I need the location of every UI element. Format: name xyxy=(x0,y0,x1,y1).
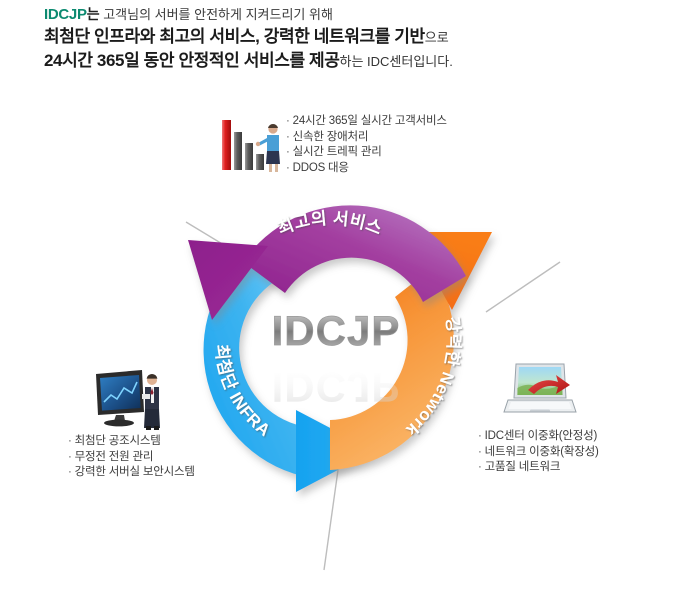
list-item: 고품질 네트워크 xyxy=(478,460,599,476)
list-item: 네트워크 이중화(확장성) xyxy=(478,445,599,461)
list-item: 실시간 트레픽 관리 xyxy=(286,145,447,161)
bar-chart-presenter-icon xyxy=(218,112,282,176)
infographic-canvas: IDCJP는 고객님의 서버를 안전하게 지켜드리기 위해 최첨단 인프라와 최… xyxy=(0,0,680,600)
center-logo-text: IDCJP xyxy=(272,307,401,354)
list-item: 강력한 서버실 보안시스템 xyxy=(68,465,195,481)
list-item: 무정전 전원 관리 xyxy=(68,450,195,466)
center-logo: IDCJP IDCJP xyxy=(272,307,401,411)
cycle-diagram: 최고의 서비스 최첨단 INFRA 강력한 Network IDCJP IDCJ… xyxy=(0,0,680,600)
list-item: DDOS 대응 xyxy=(286,161,447,177)
connector-line-network xyxy=(486,262,560,312)
laptop-arrow-icon xyxy=(504,360,576,422)
center-logo-reflection: IDCJP xyxy=(272,364,401,411)
monitor-businessman-icon xyxy=(92,368,168,434)
callout-service-list: 24시간 365일 실시간 고객서비스 신속한 장애처리 실시간 트레픽 관리 … xyxy=(286,114,447,176)
list-item: 최첨단 공조시스템 xyxy=(68,434,195,450)
list-item: IDC센터 이중화(안정성) xyxy=(478,429,599,445)
list-item: 신속한 장애처리 xyxy=(286,130,447,146)
list-item: 24시간 365일 실시간 고객서비스 xyxy=(286,114,447,130)
callout-infra-list: 최첨단 공조시스템 무정전 전원 관리 강력한 서버실 보안시스템 xyxy=(68,434,195,481)
connector-line-infra xyxy=(324,470,338,570)
callout-network-list: IDC센터 이중화(안정성) 네트워크 이중화(확장성) 고품질 네트워크 xyxy=(478,429,599,476)
